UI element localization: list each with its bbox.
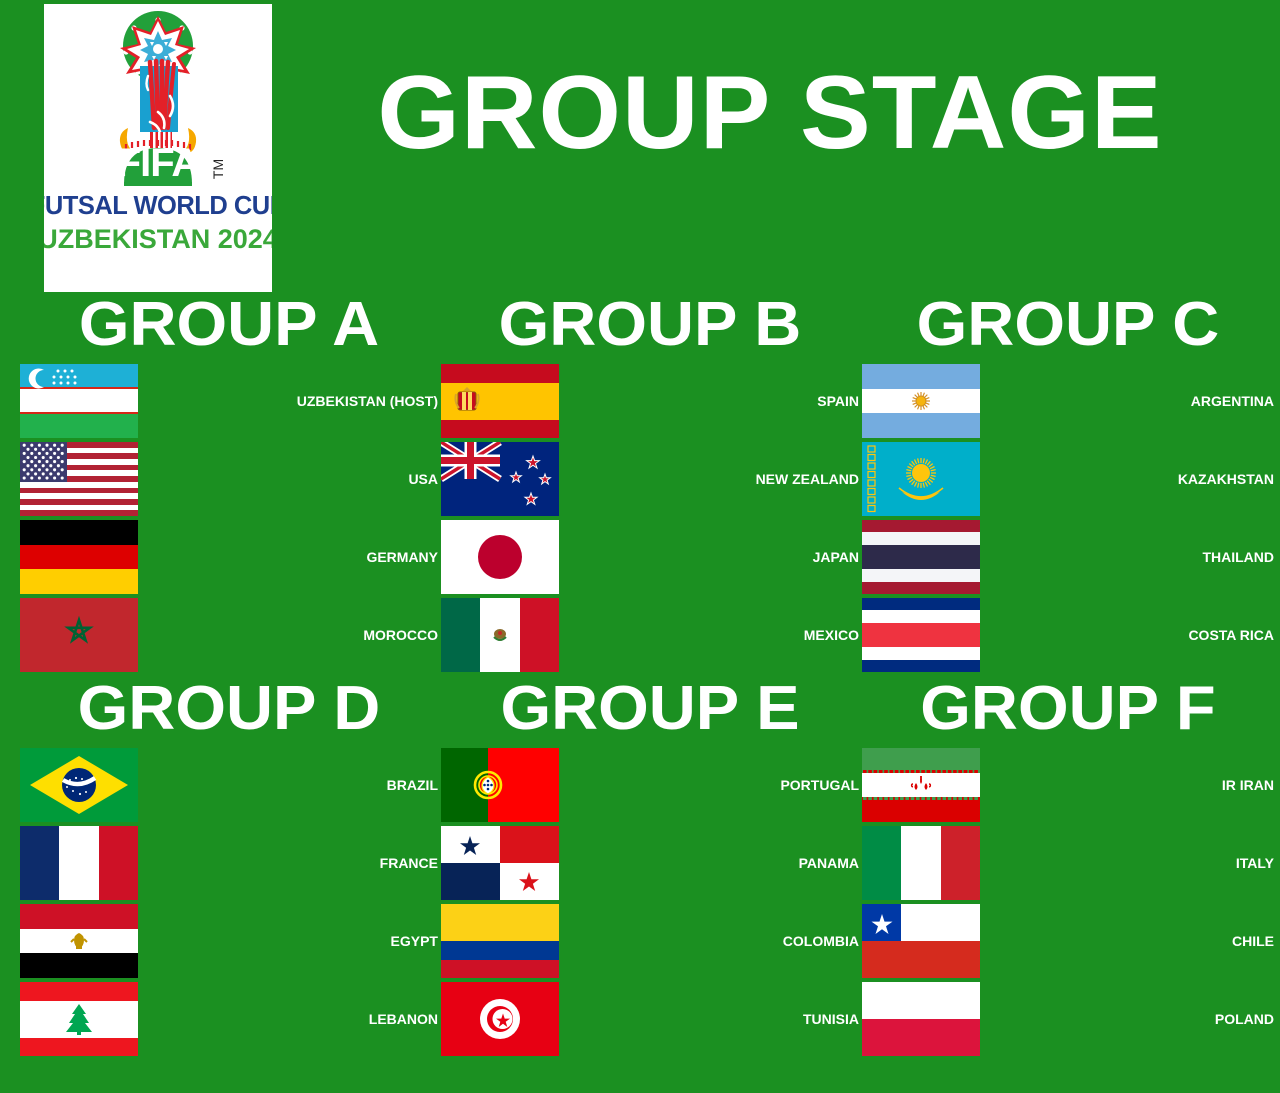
team-row[interactable]: KAZAKHSTAN bbox=[862, 440, 1274, 518]
team-row[interactable]: THAILAND bbox=[862, 518, 1274, 596]
team-row[interactable]: USA bbox=[20, 440, 438, 518]
team-list: IR IRAN ITALY CHILE POLAND bbox=[862, 746, 1274, 1058]
team-name: NEW ZEALAND bbox=[559, 472, 859, 486]
team-name: USA bbox=[138, 472, 438, 486]
team-row[interactable]: MEXICO bbox=[441, 596, 859, 674]
team-name: PORTUGAL bbox=[559, 778, 859, 792]
team-name: SPAIN bbox=[559, 394, 859, 408]
team-name: IR IRAN bbox=[980, 778, 1274, 792]
team-row[interactable]: PANAMA bbox=[441, 824, 859, 902]
team-list: UZBEKISTAN (HOST) USA GERMANY MOROCCO bbox=[20, 362, 438, 674]
team-name: FRANCE bbox=[138, 856, 438, 870]
team-row[interactable]: UZBEKISTAN (HOST) bbox=[20, 362, 438, 440]
flag-new-zealand-icon bbox=[441, 442, 559, 516]
group-title: GROUP D bbox=[10, 676, 449, 742]
flag-argentina-icon bbox=[862, 364, 980, 438]
team-name: COLOMBIA bbox=[559, 934, 859, 948]
team-row[interactable]: MOROCCO bbox=[20, 596, 438, 674]
team-name: MEXICO bbox=[559, 628, 859, 642]
team-name: ITALY bbox=[980, 856, 1274, 870]
team-row[interactable]: CHILE bbox=[862, 902, 1274, 980]
team-name: TUNISIA bbox=[559, 1012, 859, 1026]
team-row[interactable]: BRAZIL bbox=[20, 746, 438, 824]
group-block-e: GROUP E PORTUGAL PANAMA COLOMBIA bbox=[441, 676, 859, 1058]
group-block-a: GROUP A UZBEKISTAN (HOST) USA GERMANY bbox=[20, 292, 438, 674]
team-row[interactable]: FRANCE bbox=[20, 824, 438, 902]
flag-spain-icon bbox=[441, 364, 559, 438]
team-row[interactable]: IR IRAN bbox=[862, 746, 1274, 824]
flag-panama-icon bbox=[441, 826, 559, 900]
group-title: GROUP C bbox=[852, 292, 1280, 358]
flag-poland-icon bbox=[862, 982, 980, 1056]
team-row[interactable]: JAPAN bbox=[441, 518, 859, 596]
group-block-f: GROUP F IR IRAN ITALY bbox=[862, 676, 1274, 1058]
flag-lebanon-icon bbox=[20, 982, 138, 1056]
team-name: LEBANON bbox=[138, 1012, 438, 1026]
team-row[interactable]: TUNISIA bbox=[441, 980, 859, 1058]
team-list: SPAIN NEW ZEALAND JAPAN bbox=[441, 362, 859, 674]
flag-japan-icon bbox=[441, 520, 559, 594]
team-list: PORTUGAL PANAMA COLOMBIA TUNISIA bbox=[441, 746, 859, 1058]
flag-germany-icon bbox=[20, 520, 138, 594]
team-row[interactable]: PORTUGAL bbox=[441, 746, 859, 824]
flag-costa-rica-icon bbox=[862, 598, 980, 672]
team-name: POLAND bbox=[980, 1012, 1274, 1026]
flag-colombia-icon bbox=[441, 904, 559, 978]
group-title: GROUP B bbox=[431, 292, 870, 358]
flag-morocco-icon bbox=[20, 598, 138, 672]
flag-usa-icon bbox=[20, 442, 138, 516]
flag-portugal-icon bbox=[441, 748, 559, 822]
team-name: PANAMA bbox=[559, 856, 859, 870]
team-name: EGYPT bbox=[138, 934, 438, 948]
svg-text:FUTSAL WORLD CUP: FUTSAL WORLD CUP bbox=[44, 192, 272, 220]
team-name: CHILE bbox=[980, 934, 1274, 948]
flag-egypt-icon bbox=[20, 904, 138, 978]
team-list: BRAZIL FRANCE EGYPT LEBANON bbox=[20, 746, 438, 1058]
team-row[interactable]: NEW ZEALAND bbox=[441, 440, 859, 518]
group-block-c: GROUP C ARGENTINA KAZAKHSTAN bbox=[862, 292, 1274, 674]
team-row[interactable]: COSTA RICA bbox=[862, 596, 1274, 674]
page-title: GROUP STAGE bbox=[280, 58, 1259, 168]
team-row[interactable]: EGYPT bbox=[20, 902, 438, 980]
team-row[interactable]: POLAND bbox=[862, 980, 1274, 1058]
flag-mexico-icon bbox=[441, 598, 559, 672]
team-name: THAILAND bbox=[980, 550, 1274, 564]
flag-brazil-icon bbox=[20, 748, 138, 822]
flag-iran-icon bbox=[862, 748, 980, 822]
header-banner: FIFA TM FUTSAL WORLD CUP UZBEKISTAN 2024… bbox=[0, 0, 1280, 292]
team-row[interactable]: ARGENTINA bbox=[862, 362, 1274, 440]
flag-kazakhstan-icon bbox=[862, 442, 980, 516]
svg-text:TM: TM bbox=[210, 159, 226, 179]
flag-tunisia-icon bbox=[441, 982, 559, 1056]
team-row[interactable]: SPAIN bbox=[441, 362, 859, 440]
svg-text:UZBEKISTAN 2024: UZBEKISTAN 2024 bbox=[44, 224, 272, 254]
flag-uzbekistan-icon bbox=[20, 364, 138, 438]
svg-text:FIFA: FIFA bbox=[117, 141, 200, 185]
team-row[interactable]: LEBANON bbox=[20, 980, 438, 1058]
team-list: ARGENTINA KAZAKHSTAN THAILAND COSTA RICA bbox=[862, 362, 1274, 674]
team-name: KAZAKHSTAN bbox=[980, 472, 1274, 486]
team-row[interactable]: ITALY bbox=[862, 824, 1274, 902]
team-row[interactable]: COLOMBIA bbox=[441, 902, 859, 980]
team-name: JAPAN bbox=[559, 550, 859, 564]
team-name: ARGENTINA bbox=[980, 394, 1274, 408]
team-name: COSTA RICA bbox=[980, 628, 1274, 642]
team-name: BRAZIL bbox=[138, 778, 438, 792]
flag-thailand-icon bbox=[862, 520, 980, 594]
flag-france-icon bbox=[20, 826, 138, 900]
team-name: MOROCCO bbox=[138, 628, 438, 642]
tournament-logo: FIFA TM FUTSAL WORLD CUP UZBEKISTAN 2024 bbox=[44, 4, 272, 292]
team-row[interactable]: GERMANY bbox=[20, 518, 438, 596]
fifa-futsal-logo-svg: FIFA TM FUTSAL WORLD CUP UZBEKISTAN 2024 bbox=[44, 4, 272, 292]
group-block-b: GROUP B SPAIN bbox=[441, 292, 859, 674]
flag-chile-icon bbox=[862, 904, 980, 978]
group-title: GROUP E bbox=[431, 676, 870, 742]
team-name: UZBEKISTAN (HOST) bbox=[138, 394, 438, 408]
group-title: GROUP A bbox=[10, 292, 449, 358]
group-title: GROUP F bbox=[852, 676, 1280, 742]
flag-italy-icon bbox=[862, 826, 980, 900]
team-name: GERMANY bbox=[138, 550, 438, 564]
group-block-d: GROUP D BRAZIL FRANCE EGYPT bbox=[20, 676, 438, 1058]
